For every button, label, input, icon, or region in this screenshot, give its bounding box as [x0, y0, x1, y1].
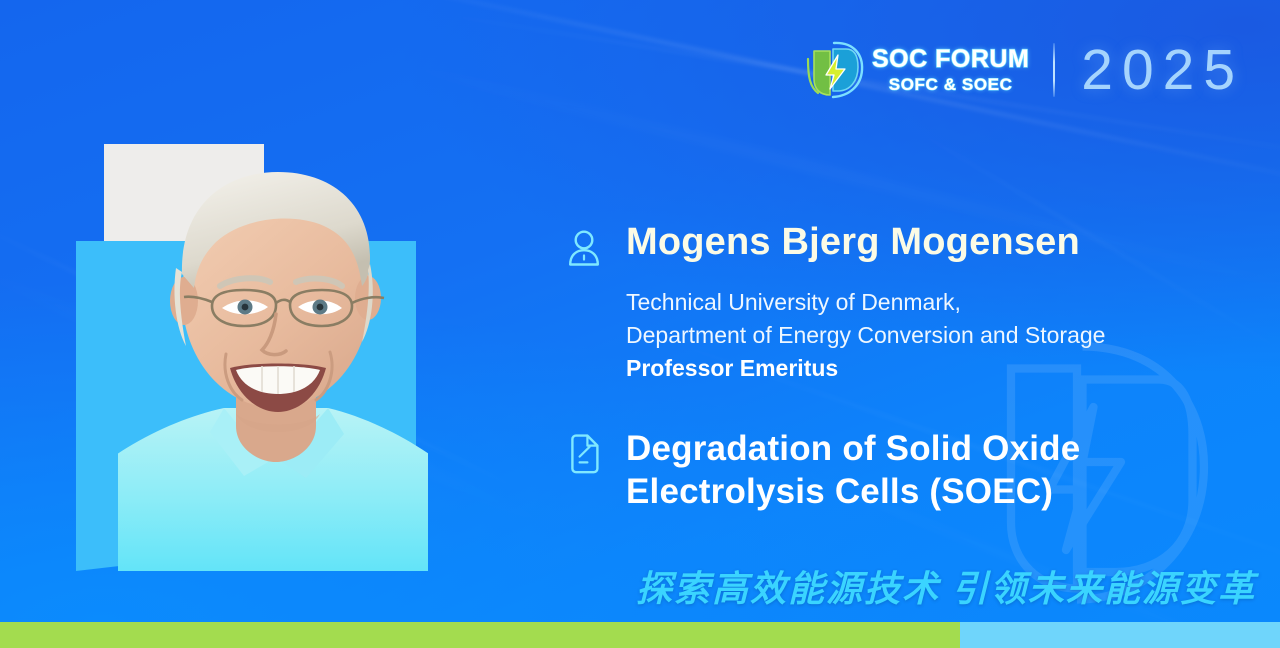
affiliation-line-2: Department of Energy Conversion and Stor…: [626, 322, 1105, 348]
speaker-role: Professor Emeritus: [626, 352, 1260, 385]
talk-title-line-1: Degradation of Solid Oxide: [626, 429, 1080, 468]
speaker-row: Mogens Bjerg Mogensen: [560, 222, 1260, 272]
speaker-name: Mogens Bjerg Mogensen: [626, 222, 1080, 263]
speaker-affiliation: Technical University of Denmark, Departm…: [626, 286, 1260, 385]
bottom-bar-blue-segment: [960, 622, 1280, 648]
brand-subtitle: SOFC & SOEC: [889, 76, 1013, 93]
speaker-announcement-card: SOC FORUM SOFC & SOEC 2025: [0, 0, 1280, 648]
talk-title: Degradation of Solid Oxide Electrolysis …: [626, 428, 1080, 513]
event-tagline: 探索高效能源技术 引领未来能源变革: [0, 560, 1256, 612]
person-icon: [560, 224, 608, 272]
session-details: Mogens Bjerg Mogensen Technical Universi…: [560, 222, 1260, 513]
document-edit-icon: [560, 430, 608, 478]
affiliation-line-1: Technical University of Denmark,: [626, 289, 961, 315]
speaker-portrait: [118, 146, 428, 571]
brand-title: SOC FORUM: [872, 47, 1029, 72]
forum-year: 2025: [1081, 42, 1244, 99]
brand-wordmark: SOC FORUM SOFC & SOEC: [872, 47, 1029, 93]
speaker-name-block: Mogens Bjerg Mogensen: [626, 222, 1080, 263]
talk-title-line-2: Electrolysis Cells (SOEC): [626, 472, 1053, 511]
soc-forum-logo-icon: [800, 39, 866, 101]
brand-divider: [1053, 43, 1055, 97]
forum-brand-header: SOC FORUM SOFC & SOEC 2025: [800, 38, 1244, 102]
talk-row: Degradation of Solid Oxide Electrolysis …: [560, 428, 1260, 513]
bottom-accent-bar: [0, 622, 1280, 648]
portrait-composition: [60, 130, 490, 580]
bottom-bar-green-segment: [0, 622, 960, 648]
